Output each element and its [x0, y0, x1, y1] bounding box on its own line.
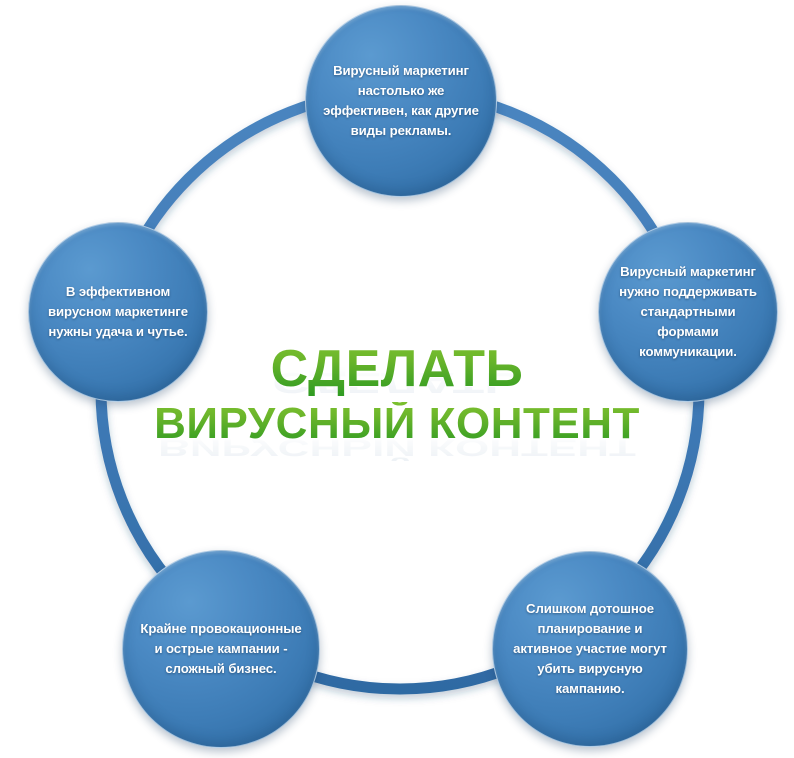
cycle-node-bottom-right[interactable]: Слишком дотошное планирование и активное…	[492, 551, 688, 747]
cycle-node-bottom-right-label: Слишком дотошное планирование и активное…	[500, 599, 680, 699]
cycle-diagram: СДЕЛАТЬ ВИРУСНЫЙ КОНТЕНТ СДЕЛАТЬ ВИРУСНЫ…	[0, 0, 794, 758]
cycle-node-left-label: В эффективном вирусном маркетинге нужны …	[35, 282, 201, 342]
cycle-node-bottom-left-label: Крайне провокационные и острые кампании …	[127, 619, 314, 679]
cycle-node-left[interactable]: В эффективном вирусном маркетинге нужны …	[28, 222, 208, 402]
cycle-node-bottom-left[interactable]: Крайне провокационные и острые кампании …	[122, 550, 320, 748]
cycle-node-top-label: Вирусный маркетинг настолько же эффектив…	[310, 61, 492, 141]
cycle-node-right-label: Вирусный маркетинг нужно поддерживать ст…	[599, 262, 777, 362]
cycle-node-right[interactable]: Вирусный маркетинг нужно поддерживать ст…	[598, 222, 778, 402]
cycle-node-top[interactable]: Вирусный маркетинг настолько же эффектив…	[305, 5, 497, 197]
